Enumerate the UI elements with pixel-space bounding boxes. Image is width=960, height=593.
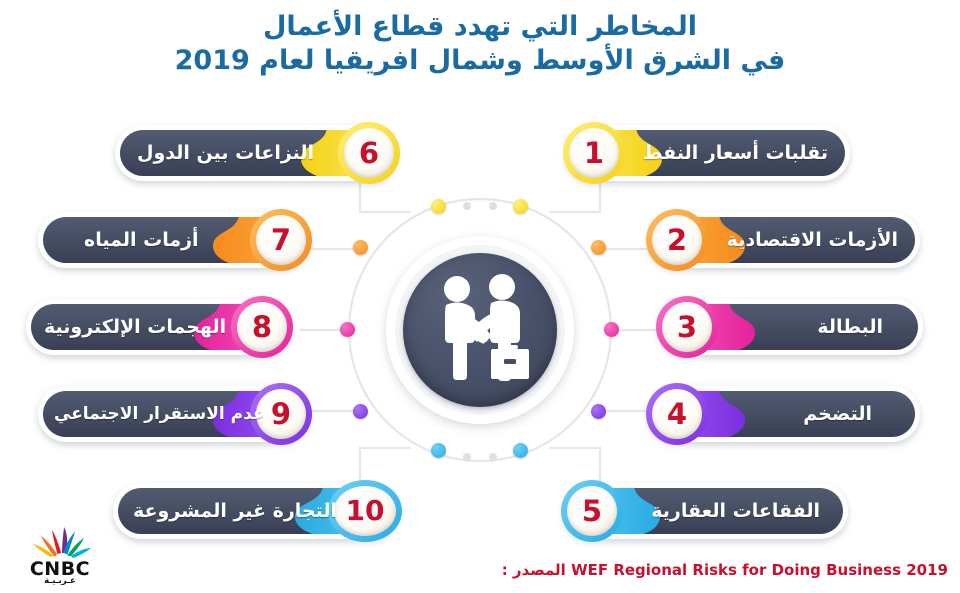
risk-badge-6: 6 [338, 122, 400, 184]
orbit-dot-6 [431, 199, 446, 214]
risk-pill-6[interactable]: 6 النزاعات بين الدول [115, 125, 398, 181]
risk-badge-5: 5 [561, 480, 623, 542]
orbit-dot-9 [353, 404, 368, 419]
risk-label-8: الهجمات الإلكترونية [44, 299, 226, 355]
risk-badge-8: 8 [231, 296, 293, 358]
risk-pill-5[interactable]: 5 الفقاعات العقارية [563, 483, 848, 539]
risk-number-8: 8 [252, 296, 272, 358]
risk-number-7: 7 [271, 209, 291, 271]
handshake-businessmen-icon [403, 253, 557, 407]
risk-badge-10: 10 [328, 480, 402, 542]
risk-label-2: الأزمات الاقتصادية [727, 212, 898, 268]
orbit-minidot-top-left [463, 202, 471, 210]
orbit-dot-4 [591, 404, 606, 419]
risk-pill-1[interactable]: 1 تقلبات أسعار النفط [565, 125, 850, 181]
source-credit: WEF Regional Risks for Doing Business 20… [502, 561, 948, 579]
risk-label-7: أزمات المياه [84, 212, 199, 268]
center-medallion [386, 236, 574, 424]
risk-label-10: التجارة غير المشروعة [133, 483, 337, 539]
risk-number-1: 1 [584, 122, 604, 184]
center-disc [403, 253, 557, 407]
risk-pill-2[interactable]: 2 الأزمات الاقتصادية [648, 212, 920, 268]
title-line-1: المخاطر التي تهدد قطاع الأعمال [0, 10, 960, 44]
orbit-dot-3 [604, 322, 619, 337]
page-title: المخاطر التي تهدد قطاع الأعمال في الشرق … [0, 10, 960, 78]
risk-pill-8[interactable]: 8 الهجمات الإلكترونية [26, 299, 291, 355]
risk-label-3: البطالة [817, 299, 883, 355]
risk-number-10: 10 [346, 480, 385, 542]
risk-number-3: 3 [677, 296, 697, 358]
risk-label-5: الفقاعات العقارية [651, 483, 820, 539]
risk-label-1: تقلبات أسعار النفط [643, 125, 828, 181]
infographic-canvas: المخاطر التي تهدد قطاع الأعمال في الشرق … [0, 0, 960, 593]
risk-badge-2: 2 [646, 209, 708, 271]
title-line-2: في الشرق الأوسط وشمال افريقيا لعام 2019 [0, 44, 960, 78]
orbit-minidot-top-right [489, 202, 497, 210]
risk-pill-10[interactable]: 10 التجارة غير المشروعة [113, 483, 398, 539]
risk-badge-1: 1 [563, 122, 625, 184]
risk-pill-7[interactable]: 7 أزمات المياه [38, 212, 310, 268]
risk-number-2: 2 [667, 209, 687, 271]
orbit-dot-5 [513, 443, 528, 458]
orbit-minidot-bottom-right [489, 453, 497, 461]
orbit-dot-8 [340, 322, 355, 337]
risk-pill-4[interactable]: 4 التضخم [648, 386, 920, 442]
risk-label-4: التضخم [803, 386, 872, 442]
risk-badge-4: 4 [646, 383, 708, 445]
orbit-dot-10 [431, 443, 446, 458]
risk-label-9: عدم الاستقرار الاجتماعي [54, 386, 265, 442]
orbit-dot-2 [591, 240, 606, 255]
risk-pill-9[interactable]: 9 عدم الاستقرار الاجتماعي [38, 386, 310, 442]
orbit-dot-1 [513, 199, 528, 214]
source-text: WEF Regional Risks for Doing Business 20… [571, 561, 948, 579]
orbit-dot-7 [353, 240, 368, 255]
risk-badge-7: 7 [250, 209, 312, 271]
source-prefix: المصدر : [502, 561, 566, 579]
risk-label-6: النزاعات بين الدول [137, 125, 314, 181]
logo-arabic-wordmark: عـربـيـة [44, 576, 76, 585]
cnbc-peacock-icon: CNBC عـربـيـة [8, 525, 120, 585]
risk-number-5: 5 [582, 480, 602, 542]
cnbc-arabia-logo: CNBC عـربـيـة [8, 525, 120, 585]
risk-number-9: 9 [271, 383, 291, 445]
risk-number-4: 4 [667, 383, 687, 445]
risk-badge-3: 3 [656, 296, 718, 358]
risk-pill-3[interactable]: 3 البطالة [658, 299, 923, 355]
orbit-minidot-bottom-left [463, 453, 471, 461]
risk-number-6: 6 [359, 122, 379, 184]
